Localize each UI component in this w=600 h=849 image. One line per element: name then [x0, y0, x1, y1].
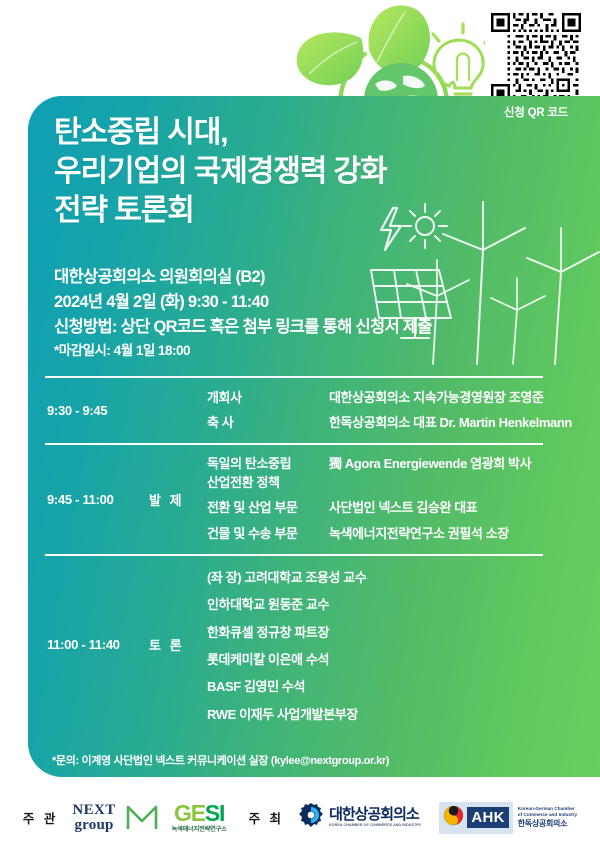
kcci-name-ko: 대한상공회의소: [329, 807, 421, 822]
schedule-row: 9:30 - 9:45 개회사 대한상공회의소 지속가능경영원장 조영준 축 사…: [45, 378, 570, 443]
panelist: 한화큐셀 정규창 파트장: [207, 617, 570, 644]
session-label: 건물 및 수송 부문: [207, 525, 329, 543]
ahk-wordmark: AHK: [467, 807, 508, 828]
poster-title: 탄소중립 시대, 우리기업의 국제경쟁력 강화 전략 토론회: [54, 113, 474, 230]
ahk-name-ko: 한독상공회의소: [518, 819, 577, 828]
session-line: 전환 및 산업 부문 사단법인 넥스트 김승완 대표: [207, 496, 570, 521]
divider: [45, 443, 543, 445]
session-time: 9:45 - 11:00: [45, 492, 149, 507]
qr-code-icon[interactable]: [488, 10, 584, 106]
session-body: 독일의 탄소중립 산업전환 정책 獨 Agora Energiewende 염광…: [207, 452, 570, 547]
session-label: 축 사: [207, 414, 329, 432]
session-kind: 토 론: [149, 635, 207, 654]
panelist: RWE 이재두 사업개발본부장: [207, 700, 570, 727]
next-group-logo[interactable]: NEXT group: [72, 803, 115, 832]
next-group-mark-icon: [125, 804, 159, 832]
ahk-logo[interactable]: AHK Korean-German Chamber of Commerce an…: [439, 802, 577, 834]
gesi-wordmark: GESI: [174, 802, 224, 825]
session-body: 개회사 대한상공회의소 지속가능경영원장 조영준 축 사 한독상공회의소 대표 …: [207, 385, 572, 436]
divider: [45, 554, 543, 556]
ahk-text: Korean-German Chamber of Commerce and In…: [513, 802, 577, 834]
panelist: (좌 장) 고려대학교 조용성 교수: [207, 563, 570, 590]
host-logo-group: NEXT group: [72, 803, 158, 832]
kcci-gear-icon: [298, 802, 324, 833]
session-label: 독일의 탄소중립 산업전환 정책: [207, 455, 329, 492]
gesi-logo[interactable]: GESI 녹색에너지전략연구소: [172, 802, 227, 833]
session-body: (좌 장) 고려대학교 조용성 교수 인하대학교 원동준 교수 한화큐셀 정규창…: [207, 563, 570, 727]
panelist: 롯데케미칼 이은애 수석: [207, 645, 570, 672]
kcci-logo[interactable]: 대한상공회의소 KOREA CHAMBER OF COMMERCE AND IN…: [298, 802, 421, 833]
session-label: 전환 및 산업 부문: [207, 499, 329, 517]
panelist: BASF 김영민 수석: [207, 672, 570, 699]
session-line: 독일의 탄소중립 산업전환 정책 獨 Agora Energiewende 염광…: [207, 452, 570, 496]
session-value: 사단법인 넥스트 김승완 대표: [329, 499, 570, 517]
divider: [45, 376, 543, 378]
session-time: 9:30 - 9:45: [45, 403, 149, 418]
session-line: 개회사 대한상공회의소 지속가능경영원장 조영준: [207, 385, 572, 410]
next-logo-line1: NEXT: [72, 803, 115, 817]
schedule-table: 9:30 - 9:45 개회사 대한상공회의소 지속가능경영원장 조영준 축 사…: [45, 376, 570, 734]
panelist: 인하대학교 원동준 교수: [207, 590, 570, 617]
event-apply-method: 신청방법: 상단 QR코드 혹은 첨부 링크를 통해 신청서 제출: [54, 315, 524, 340]
kcci-name-en: KOREA CHAMBER OF COMMERCE AND INDUSTRY: [329, 824, 421, 828]
event-datetime: 2024년 4월 2일 (화) 9:30 - 11:40: [54, 290, 524, 315]
event-info: 대한상공회의소 의원회의실 (B2) 2024년 4월 2일 (화) 9:30 …: [54, 265, 524, 362]
next-logo-line2: group: [74, 818, 113, 832]
session-time: 11:00 - 11:40: [45, 637, 149, 652]
session-line: 축 사 한독상공회의소 대표 Dr. Martin Henkelmann: [207, 410, 572, 435]
poster-root: 탄소중립 시대, 우리기업의 국제경쟁력 강화 전략 토론회 대한상공회의소 의…: [0, 0, 600, 849]
ahk-name-en-line2: of Commerce and Industry: [518, 812, 577, 817]
ahk-taegeuk-icon: [443, 805, 464, 831]
schedule-row: 11:00 - 11:40 토 론 (좌 장) 고려대학교 조용성 교수 인하대…: [45, 556, 570, 734]
qr-code-label: 신청 QR 코드: [480, 104, 592, 120]
session-label: 개회사: [207, 389, 329, 407]
event-deadline: *마감일시: 4월 1일 18:00: [54, 341, 524, 362]
session-kind: 발 제: [149, 490, 207, 509]
session-value: 한독상공회의소 대표 Dr. Martin Henkelmann: [329, 414, 572, 432]
host-label: 주 관: [23, 808, 58, 827]
kcci-text: 대한상공회의소 KOREA CHAMBER OF COMMERCE AND IN…: [329, 807, 421, 828]
session-value: 대한상공회의소 지속가능경영원장 조영준: [329, 389, 572, 407]
ahk-badge: AHK: [439, 802, 512, 834]
footer-logos: 주 관 NEXT group GESI 녹색에너지전략연구소 주 최: [0, 786, 600, 849]
session-value: 녹색에너지전략연구소 권필석 소장: [329, 525, 570, 543]
gesi-word-part2: SI: [205, 800, 224, 826]
session-value: 獨 Agora Energiewende 염광희 박사: [329, 455, 570, 473]
contact-note: *문의: 이계영 사단법인 넥스트 커뮤니케이션 실장 (kylee@nextg…: [52, 752, 389, 768]
session-line: 건물 및 수송 부문 녹색에너지전략연구소 권필석 소장: [207, 521, 570, 546]
organizer-label: 주 최: [249, 808, 284, 827]
gesi-word-part1: GE: [174, 800, 205, 826]
event-venue: 대한상공회의소 의원회의실 (B2): [54, 265, 524, 290]
gesi-sublabel: 녹색에너지전략연구소: [172, 827, 227, 833]
schedule-row: 9:45 - 11:00 발 제 독일의 탄소중립 산업전환 정책 獨 Agor…: [45, 445, 570, 554]
